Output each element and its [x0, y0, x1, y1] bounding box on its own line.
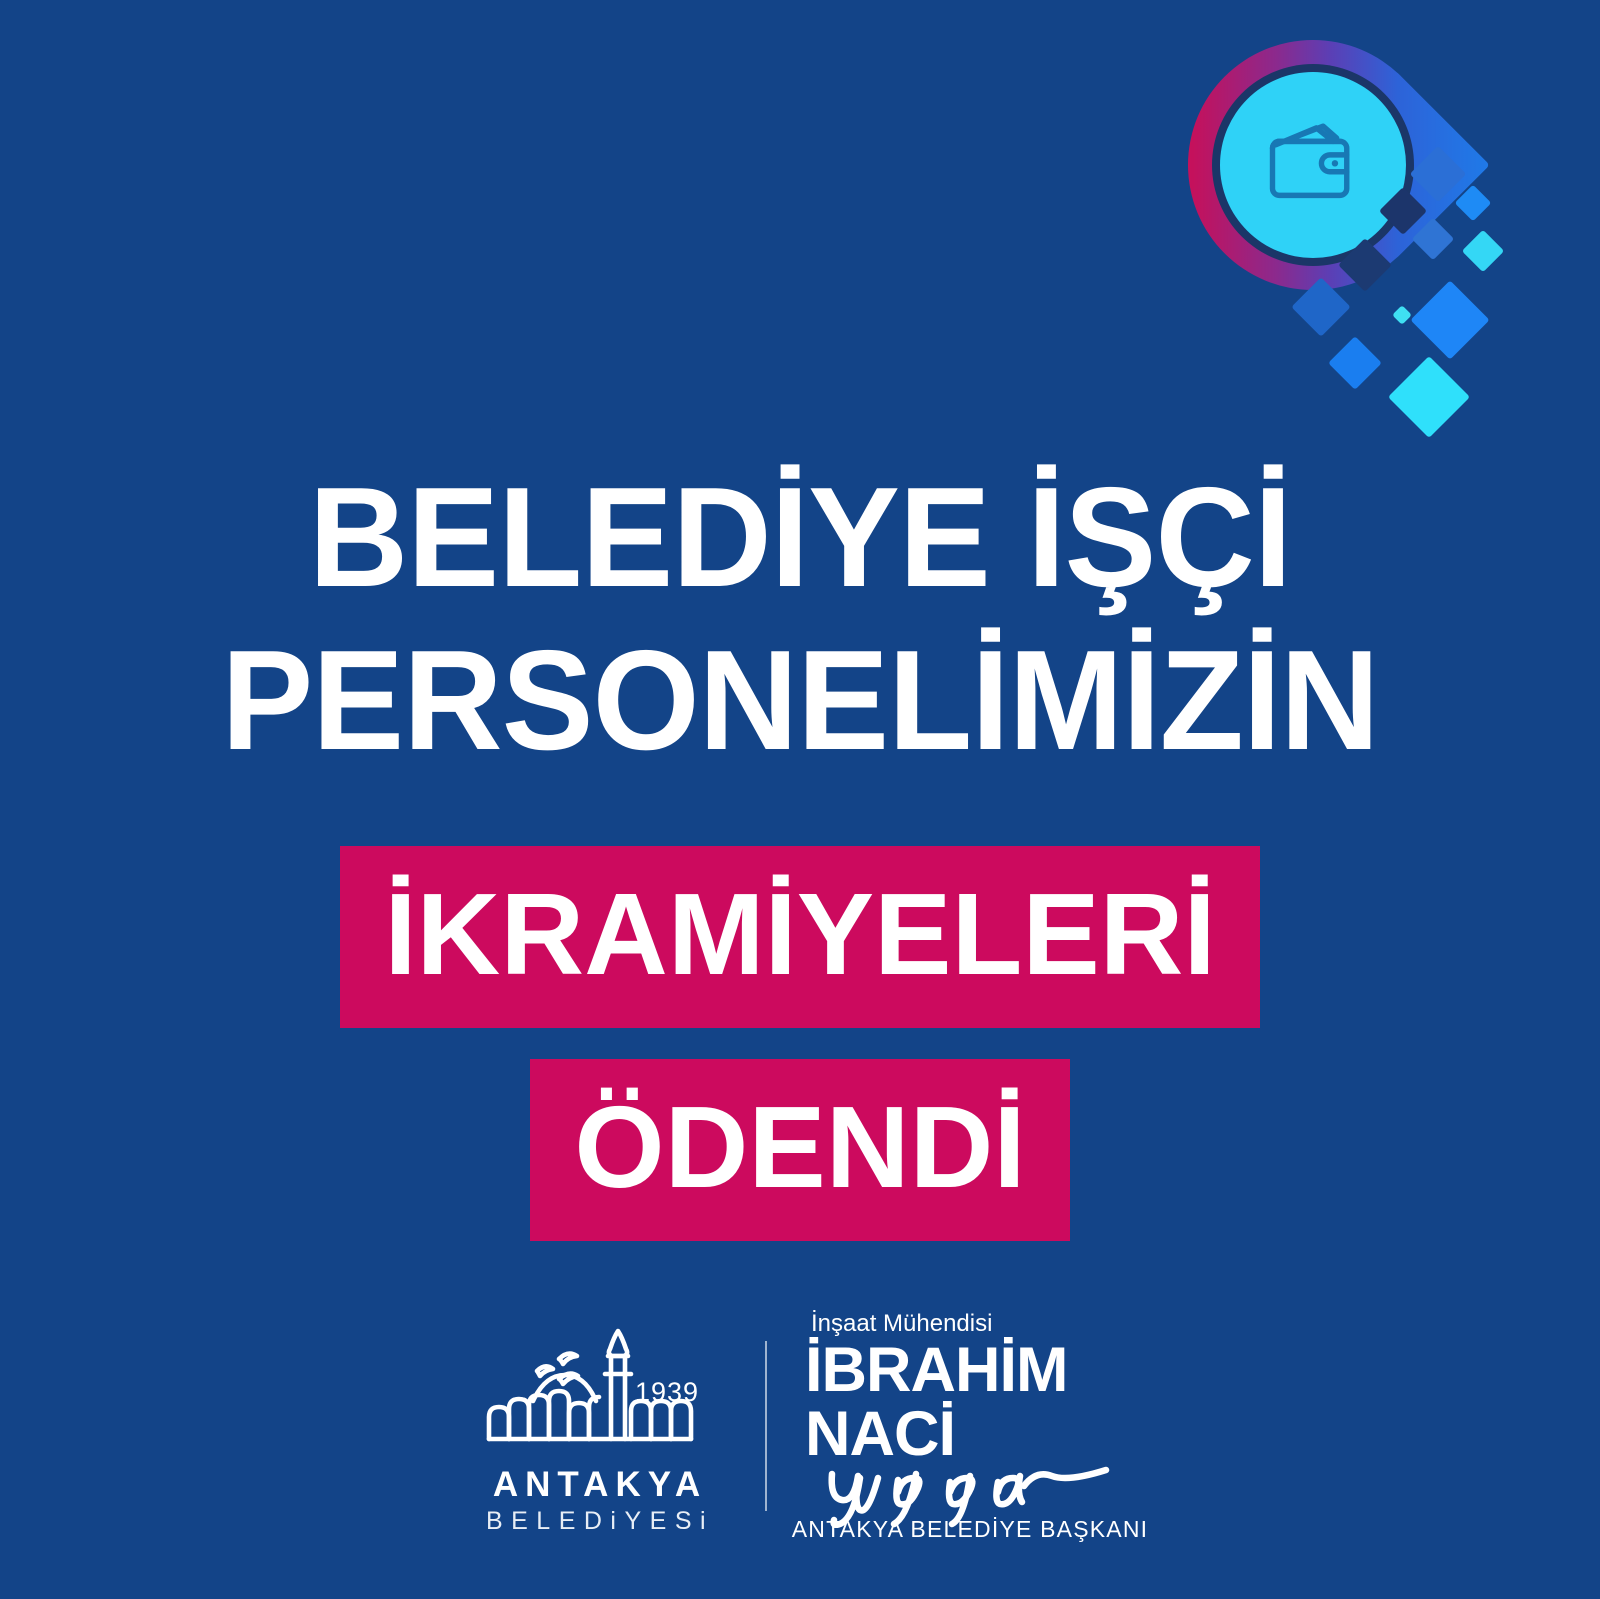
- antakya-belediyesi-logo: 1939: [465, 1319, 735, 1534]
- mayor-signature-block: İnşaat Mühendisi İBRAHİM NACİ ANTAKYA BE…: [805, 1312, 1135, 1542]
- footer: 1939: [0, 1312, 1600, 1542]
- headline: BELEDİYE İŞÇİ PERSONELİMİZİN: [0, 468, 1600, 770]
- highlight-group: İKRAMİYELERİ ÖDENDİ: [0, 846, 1600, 1241]
- pixel-diamond: [1328, 336, 1382, 390]
- mayor-title-prefix: İnşaat Mühendisi: [811, 1312, 992, 1336]
- wallet-badge: [1150, 18, 1580, 478]
- pixel-diamond: [1392, 305, 1412, 325]
- pixel-diamond: [1388, 356, 1470, 438]
- highlight-ikramiyeleri: İKRAMİYELERİ: [340, 846, 1259, 1028]
- logo-municipality-subtitle: BELEDiYESi: [486, 1509, 714, 1534]
- mayor-name: İBRAHİM NACİ: [805, 1338, 1135, 1467]
- mayor-role: ANTAKYA BELEDİYE BAŞKANI: [792, 1518, 1148, 1541]
- headline-line-2: PERSONELİMİZİN: [24, 631, 1576, 770]
- pin-disc: [1220, 72, 1406, 258]
- headline-line-1: BELEDİYE İŞÇİ: [24, 468, 1576, 607]
- poster-canvas: BELEDİYE İŞÇİ PERSONELİMİZİN İKRAMİYELER…: [0, 0, 1600, 1599]
- pin-graphic: [1188, 40, 1438, 290]
- pixel-diamond: [1410, 280, 1489, 359]
- pixel-diamond: [1462, 230, 1504, 272]
- wallet-icon: [1259, 111, 1367, 219]
- antakya-skyline-icon: 1939: [475, 1319, 725, 1469]
- footer-divider: [765, 1341, 767, 1511]
- logo-municipality-name: ANTAKYA: [493, 1467, 707, 1502]
- highlight-odendi: ÖDENDİ: [530, 1059, 1069, 1241]
